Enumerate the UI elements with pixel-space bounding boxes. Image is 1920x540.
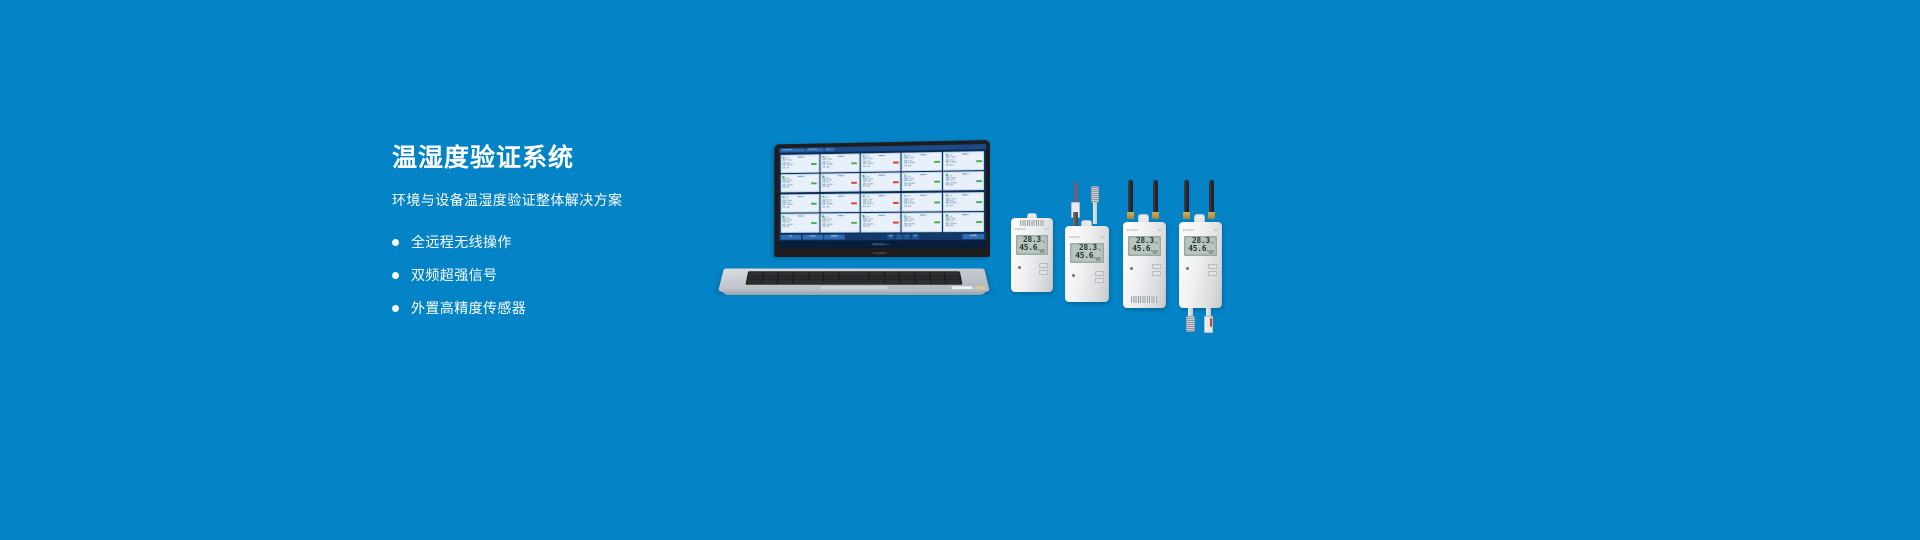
monitor-card-row: 状态正常 — [782, 187, 816, 189]
monitor-card-field-value: 正常 — [867, 166, 898, 168]
monitor-card-field-value: 正常 — [908, 186, 940, 188]
monitor-card-field-value: 正常 — [786, 227, 817, 229]
monitor-card-grid: 监测点01编号T01通道号CH-01温度28.3℃湿度45.6%RH状态正常监测… — [780, 151, 984, 233]
monitor-card[interactable]: 监测点07编号T01通道号CH-01温度28.2℃湿度46.4%RH状态正常 — [820, 173, 859, 192]
probe-filter-cap-left-icon — [1186, 316, 1195, 332]
monitor-grid-container: 监测点01编号T01通道号CH-01温度28.3℃湿度45.6%RH状态正常监测… — [779, 149, 986, 234]
monitor-card-field-key: 状态 — [904, 166, 907, 168]
monitor-card-row: 状态正常 — [863, 227, 898, 229]
keyboard-key[interactable] — [793, 282, 885, 284]
monitor-card-field-key: 状态 — [863, 187, 866, 189]
monitor-card[interactable]: 监测点01编号T01通道号CH-01温度28.3℃湿度45.6%RH状态正常 — [780, 154, 819, 173]
device-brand: ENDOW — [1015, 228, 1026, 231]
list-item: 外置高精度传感器 — [392, 298, 772, 318]
monitor-card-field-value: 正常 — [826, 187, 857, 189]
status-led-icon — [1130, 267, 1133, 270]
device-button-group[interactable] — [1095, 271, 1104, 283]
lcd-humidity-value: 45.6 — [1075, 252, 1093, 260]
monitor-card-field-key: 状态 — [782, 168, 785, 170]
lcd-sublabel: REC — [1131, 253, 1158, 255]
keyboard-row — [747, 282, 962, 284]
monitor-card-row: 状态正常 — [863, 207, 898, 209]
monitor-card-field-key: 状态 — [782, 227, 785, 229]
monitor-card-field-key: 状态 — [904, 227, 907, 229]
monitor-card[interactable]: 监测点02编号T01通道号CH-01温度27.9℃湿度46.1%RH状态正常 — [820, 153, 859, 173]
antenna-left-icon — [1184, 180, 1189, 214]
monitor-card-row: 状态正常 — [782, 167, 816, 169]
device-brand: ENDOW — [1183, 229, 1194, 232]
pagination-page-1[interactable]: 1 — [896, 234, 903, 239]
bullet-icon — [392, 272, 399, 279]
monitor-card[interactable]: 监测点05编号T01通道号CH-01温度27.6℃湿度47.3%RH状态正常 — [943, 151, 984, 171]
monitor-card-field-key: 状态 — [782, 208, 785, 210]
antenna-base-right — [1152, 212, 1159, 219]
lcd-sublabel: REC — [1187, 253, 1214, 255]
probe-tip-dark — [1073, 212, 1078, 226]
monitor-card-field-key: 状态 — [946, 186, 949, 188]
monitor-card-row: 状态正常 — [822, 167, 857, 169]
monitor-card-row: 状态正常 — [904, 227, 940, 229]
monitor-card-field-value: 正常 — [908, 206, 940, 208]
device-button-down[interactable] — [1152, 271, 1161, 276]
monitor-card-field-key: 状态 — [822, 207, 825, 209]
monitor-card-row: 状态正常 — [946, 185, 982, 187]
app-status-bar: 温湿度验证系统 V3.0 — [779, 240, 986, 248]
lcd-display: 28.3 ℃ 45.6 %RH REC — [1070, 243, 1104, 263]
sensor-wire — [1075, 182, 1077, 204]
monitor-card[interactable]: 监测点11编号T01通道号CH-01温度27.8℃湿度45.5%RH状态正常 — [780, 194, 819, 213]
monitor-card-field-key: 状态 — [946, 165, 949, 167]
monitor-card[interactable]: 监测点09编号T01通道号CH-01温度28.6℃湿度44.3%RH状态正常 — [902, 172, 943, 192]
data-logger-wireless: ENDOW H3 28.3 ℃ 45.6 %RH REC — [1123, 180, 1166, 308]
monitor-card-field-key: 状态 — [863, 207, 866, 209]
probe-filter-cap-icon — [1091, 186, 1099, 203]
device-button-up[interactable] — [1095, 271, 1104, 276]
antenna-right-icon — [1209, 180, 1214, 214]
export-data-button[interactable]: 数据导出 — [824, 235, 845, 240]
list-item: 全远程无线操作 — [392, 232, 772, 252]
keyboard-key[interactable] — [747, 282, 762, 284]
monitor-card-field-value: 正常 — [826, 207, 857, 209]
monitor-card-row: 状态正常 — [782, 227, 816, 229]
lcd-display: 28.3 ℃ 45.6 %RH REC — [1128, 236, 1161, 256]
monitor-card[interactable]: 监测点03编号T01通道号CH-01温度28.1℃湿度44.8%RH状态正常 — [861, 152, 901, 172]
lcd-sublabel: REC — [1073, 260, 1101, 262]
monitor-card-row: 状态正常 — [822, 227, 857, 229]
monitor-card[interactable]: 监测点06编号T01通道号CH-01温度28.8℃湿度45.9%RH状态正常 — [780, 174, 819, 193]
device-button-down[interactable] — [1095, 278, 1104, 283]
bullet-icon — [392, 239, 399, 246]
laptop-keyboard[interactable] — [745, 271, 962, 284]
monitor-card-field-key: 状态 — [782, 188, 785, 190]
device-button-down[interactable] — [1039, 270, 1048, 275]
antenna-base-left — [1127, 212, 1134, 219]
device-brandline: ENDOW H1 — [1011, 228, 1053, 231]
monitor-card[interactable]: 监测点04编号T01通道号CH-01温度28.5℃湿度45.2%RH状态正常 — [902, 151, 943, 171]
laptop-base — [718, 250, 990, 300]
device-button-up[interactable] — [1152, 264, 1161, 269]
pagination-first[interactable]: 首页 — [887, 234, 894, 239]
device-button-group[interactable] — [1152, 264, 1161, 276]
laptop-screen: 温湿度验证系统 实时数据监控 报警 监测点01编号T01通道号CH-01温度28… — [779, 144, 986, 248]
tab-alarm[interactable]: 报警 — [825, 148, 834, 152]
monitor-card-field-value: 正常 — [786, 167, 817, 169]
device-brand: ENDOW — [1069, 236, 1080, 239]
laptop-base-front — [722, 289, 986, 295]
status-text: 温湿度验证系统 V3.0 — [872, 243, 890, 246]
monitor-card[interactable]: 监测点14编号T01通道号CH-01温度27.5℃湿度45.7%RH状态正常 — [902, 192, 943, 212]
antenna-right-icon — [1153, 180, 1158, 214]
sensor-device-group: ENDOW H1 28.3 ℃ 45.6 %RH REC — [1003, 178, 1233, 358]
data-logger-wireless-probe: ENDOW H3 28.3 ℃ 45.6 %RH REC — [1179, 180, 1222, 308]
print-report-button[interactable]: 打印报表 — [802, 235, 822, 240]
monitor-card[interactable]: 监测点13编号T01通道号CH-01温度28.7℃湿度46.2%RH状态正常 — [861, 193, 901, 212]
monitor-card-field-value: 正常 — [867, 186, 898, 188]
lcd-humidity-value: 45.6 — [1188, 245, 1206, 253]
monitor-card-field-key: 状态 — [863, 227, 866, 229]
monitor-card-field-key: 状态 — [904, 186, 907, 188]
monitor-card-field-value: 正常 — [908, 165, 940, 167]
monitor-card-field-value: 正常 — [867, 227, 898, 229]
status-led-icon — [1072, 274, 1075, 277]
device-body: ENDOW H3 28.3 ℃ 45.6 %RH REC — [1123, 222, 1166, 308]
lcd-display: 28.3 ℃ 45.6 %RH REC — [1184, 236, 1217, 256]
device-brandline: ENDOW H2 — [1065, 236, 1109, 239]
device-brand: ENDOW — [1127, 229, 1138, 232]
device-button-up[interactable] — [1208, 264, 1217, 269]
monitor-card[interactable]: 监测点20编号T01通道号CH-01温度27.9℃湿度45.8%RH状态正常 — [943, 212, 984, 232]
monitor-card[interactable]: 监测点10编号T01通道号CH-01温度28.0℃湿度46.8%RH状态正常 — [943, 171, 984, 191]
monitor-card-row: 状态正常 — [946, 226, 982, 228]
monitor-card-row: 状态正常 — [904, 165, 940, 167]
monitor-card-field-key: 状态 — [904, 206, 907, 208]
keyboard-key[interactable] — [900, 282, 915, 284]
probe-connector-right — [1204, 316, 1213, 333]
monitor-card[interactable]: 监测点18编号T01通道号CH-01温度28.9℃湿度44.4%RH状态正常 — [861, 213, 901, 232]
feature-label: 外置高精度传感器 — [411, 298, 526, 318]
exit-button[interactable]: 退出系统 — [962, 234, 984, 239]
monitor-card-row: 状态正常 — [946, 165, 982, 167]
hero-copy: 温湿度验证系统 环境与设备温湿度验证整体解决方案 全远程无线操作 双频超强信号 … — [392, 143, 772, 331]
antenna-base-left — [1183, 212, 1190, 219]
more-button[interactable]: 更多 — [781, 235, 801, 240]
monitor-card[interactable]: 监测点15编号T01通道号CH-01温度28.3℃湿度44.6%RH状态正常 — [943, 192, 984, 212]
vent-grille-icon — [1131, 296, 1157, 303]
probe-stem — [1093, 202, 1097, 224]
feature-list: 全远程无线操作 双频超强信号 外置高精度传感器 — [392, 232, 772, 318]
lcd-display: 28.3 ℃ 45.6 %RH REC — [1016, 235, 1048, 255]
antenna-base-right — [1208, 212, 1215, 219]
device-body: ENDOW H2 28.3 ℃ 45.6 %RH REC — [1065, 226, 1109, 302]
monitor-card-field-value: 正常 — [826, 167, 857, 169]
monitor-card-field-key: 状态 — [822, 227, 825, 229]
monitor-card-row: 状态正常 — [863, 166, 898, 168]
monitor-card-row: 状态正常 — [946, 206, 982, 208]
monitor-card[interactable]: 监测点19编号T01通道号CH-01温度28.2℃湿度46.0%RH状态正常 — [902, 213, 943, 232]
monitor-card-field-value: 正常 — [950, 185, 982, 187]
monitor-card-row: 状态正常 — [904, 186, 940, 188]
keyboard-key[interactable] — [931, 282, 946, 284]
monitor-card[interactable]: 监测点12编号T01通道号CH-01温度28.4℃湿度44.9%RH状态正常 — [820, 193, 859, 212]
monitor-card-field-value: 正常 — [786, 187, 817, 189]
monitor-card-row: 状态正常 — [863, 186, 898, 188]
device-brandline: ENDOW H3 — [1123, 229, 1166, 232]
laptop-product-image: 温湿度验证系统 实时数据监控 报警 监测点01编号T01通道号CH-01温度28… — [718, 140, 990, 300]
monitor-card-field-key: 状态 — [822, 167, 825, 169]
monitor-card-row: 状态正常 — [822, 207, 857, 209]
device-model: H3 — [1158, 229, 1162, 232]
device-body: ENDOW H3 28.3 ℃ 45.6 %RH REC — [1179, 222, 1222, 308]
list-item: 双频超强信号 — [392, 265, 772, 285]
pagination-page-2[interactable]: 2 — [904, 234, 911, 239]
lcd-humidity-value: 45.6 — [1019, 244, 1037, 252]
monitor-card-field-value: 正常 — [786, 207, 817, 209]
status-led-icon — [1186, 267, 1189, 270]
product-banner: 温湿度验证系统 环境与设备温湿度验证整体解决方案 全远程无线操作 双频超强信号 … — [0, 0, 1920, 540]
device-model: H2 — [1101, 236, 1105, 239]
monitor-card-field-value: 正常 — [908, 227, 940, 229]
lcd-humidity-value: 45.6 — [1132, 245, 1150, 253]
device-button-down[interactable] — [1208, 271, 1217, 276]
monitor-card-field-value: 正常 — [950, 226, 982, 228]
keyboard-key[interactable] — [777, 282, 792, 284]
device-model: H1 — [1045, 228, 1049, 231]
monitor-card-field-key: 状态 — [863, 167, 866, 169]
monitor-card-row: 状态正常 — [904, 206, 940, 208]
monitor-card[interactable]: 监测点08编号T01通道号CH-01温度27.4℃湿度45.1%RH状态正常 — [861, 172, 901, 192]
page-title: 温湿度验证系统 — [392, 143, 772, 173]
monitor-card-field-value: 正常 — [867, 207, 898, 209]
vent-grille-icon — [1020, 220, 1044, 226]
device-model: H3 — [1214, 229, 1218, 232]
monitor-card-row: 状态正常 — [822, 187, 857, 189]
device-body: ENDOW H1 28.3 ℃ 45.6 %RH REC — [1011, 218, 1053, 292]
hero-subtitle: 环境与设备温湿度验证整体解决方案 — [392, 190, 772, 210]
monitor-card-field-key: 状态 — [946, 226, 949, 228]
feature-label: 全远程无线操作 — [411, 232, 512, 252]
monitor-card-row: 状态正常 — [782, 207, 816, 209]
data-logger-compact: ENDOW H1 28.3 ℃ 45.6 %RH REC — [1011, 218, 1053, 292]
monitor-card[interactable]: 监测点17编号T01通道号CH-01温度27.7℃湿度45.3%RH状态正常 — [820, 213, 859, 232]
monitor-card-field-value: 正常 — [950, 165, 982, 167]
monitor-card[interactable]: 监测点16编号T01通道号CH-01温度28.1℃湿度46.5%RH状态正常 — [780, 213, 819, 232]
monitor-card-field-value: 正常 — [826, 227, 857, 229]
keyboard-key[interactable] — [762, 282, 777, 284]
keyboard-key[interactable] — [916, 282, 931, 284]
monitor-card-field-key: 状态 — [822, 187, 825, 189]
keyboard-key[interactable] — [946, 282, 961, 284]
keyboard-key[interactable] — [885, 282, 900, 284]
bullet-icon — [392, 305, 399, 312]
feature-label: 双频超强信号 — [411, 265, 497, 285]
device-button-group[interactable] — [1208, 264, 1217, 276]
monitor-card-field-value: 正常 — [950, 206, 982, 208]
device-brandline: ENDOW H3 — [1179, 229, 1222, 232]
device-button-group[interactable] — [1039, 263, 1048, 275]
data-logger-probe: ENDOW H2 28.3 ℃ 45.6 %RH REC — [1065, 182, 1109, 302]
laptop-lid: 温湿度验证系统 实时数据监控 报警 监测点01编号T01通道号CH-01温度28… — [774, 140, 990, 257]
status-led-icon — [1018, 266, 1021, 269]
antenna-left-icon — [1128, 180, 1133, 214]
lcd-sublabel: REC — [1019, 252, 1045, 254]
monitor-card-field-key: 状态 — [946, 206, 949, 208]
pagination-last[interactable]: 末页 — [912, 234, 919, 239]
sensor-wire-right — [1210, 318, 1212, 327]
device-button-up[interactable] — [1039, 263, 1048, 268]
